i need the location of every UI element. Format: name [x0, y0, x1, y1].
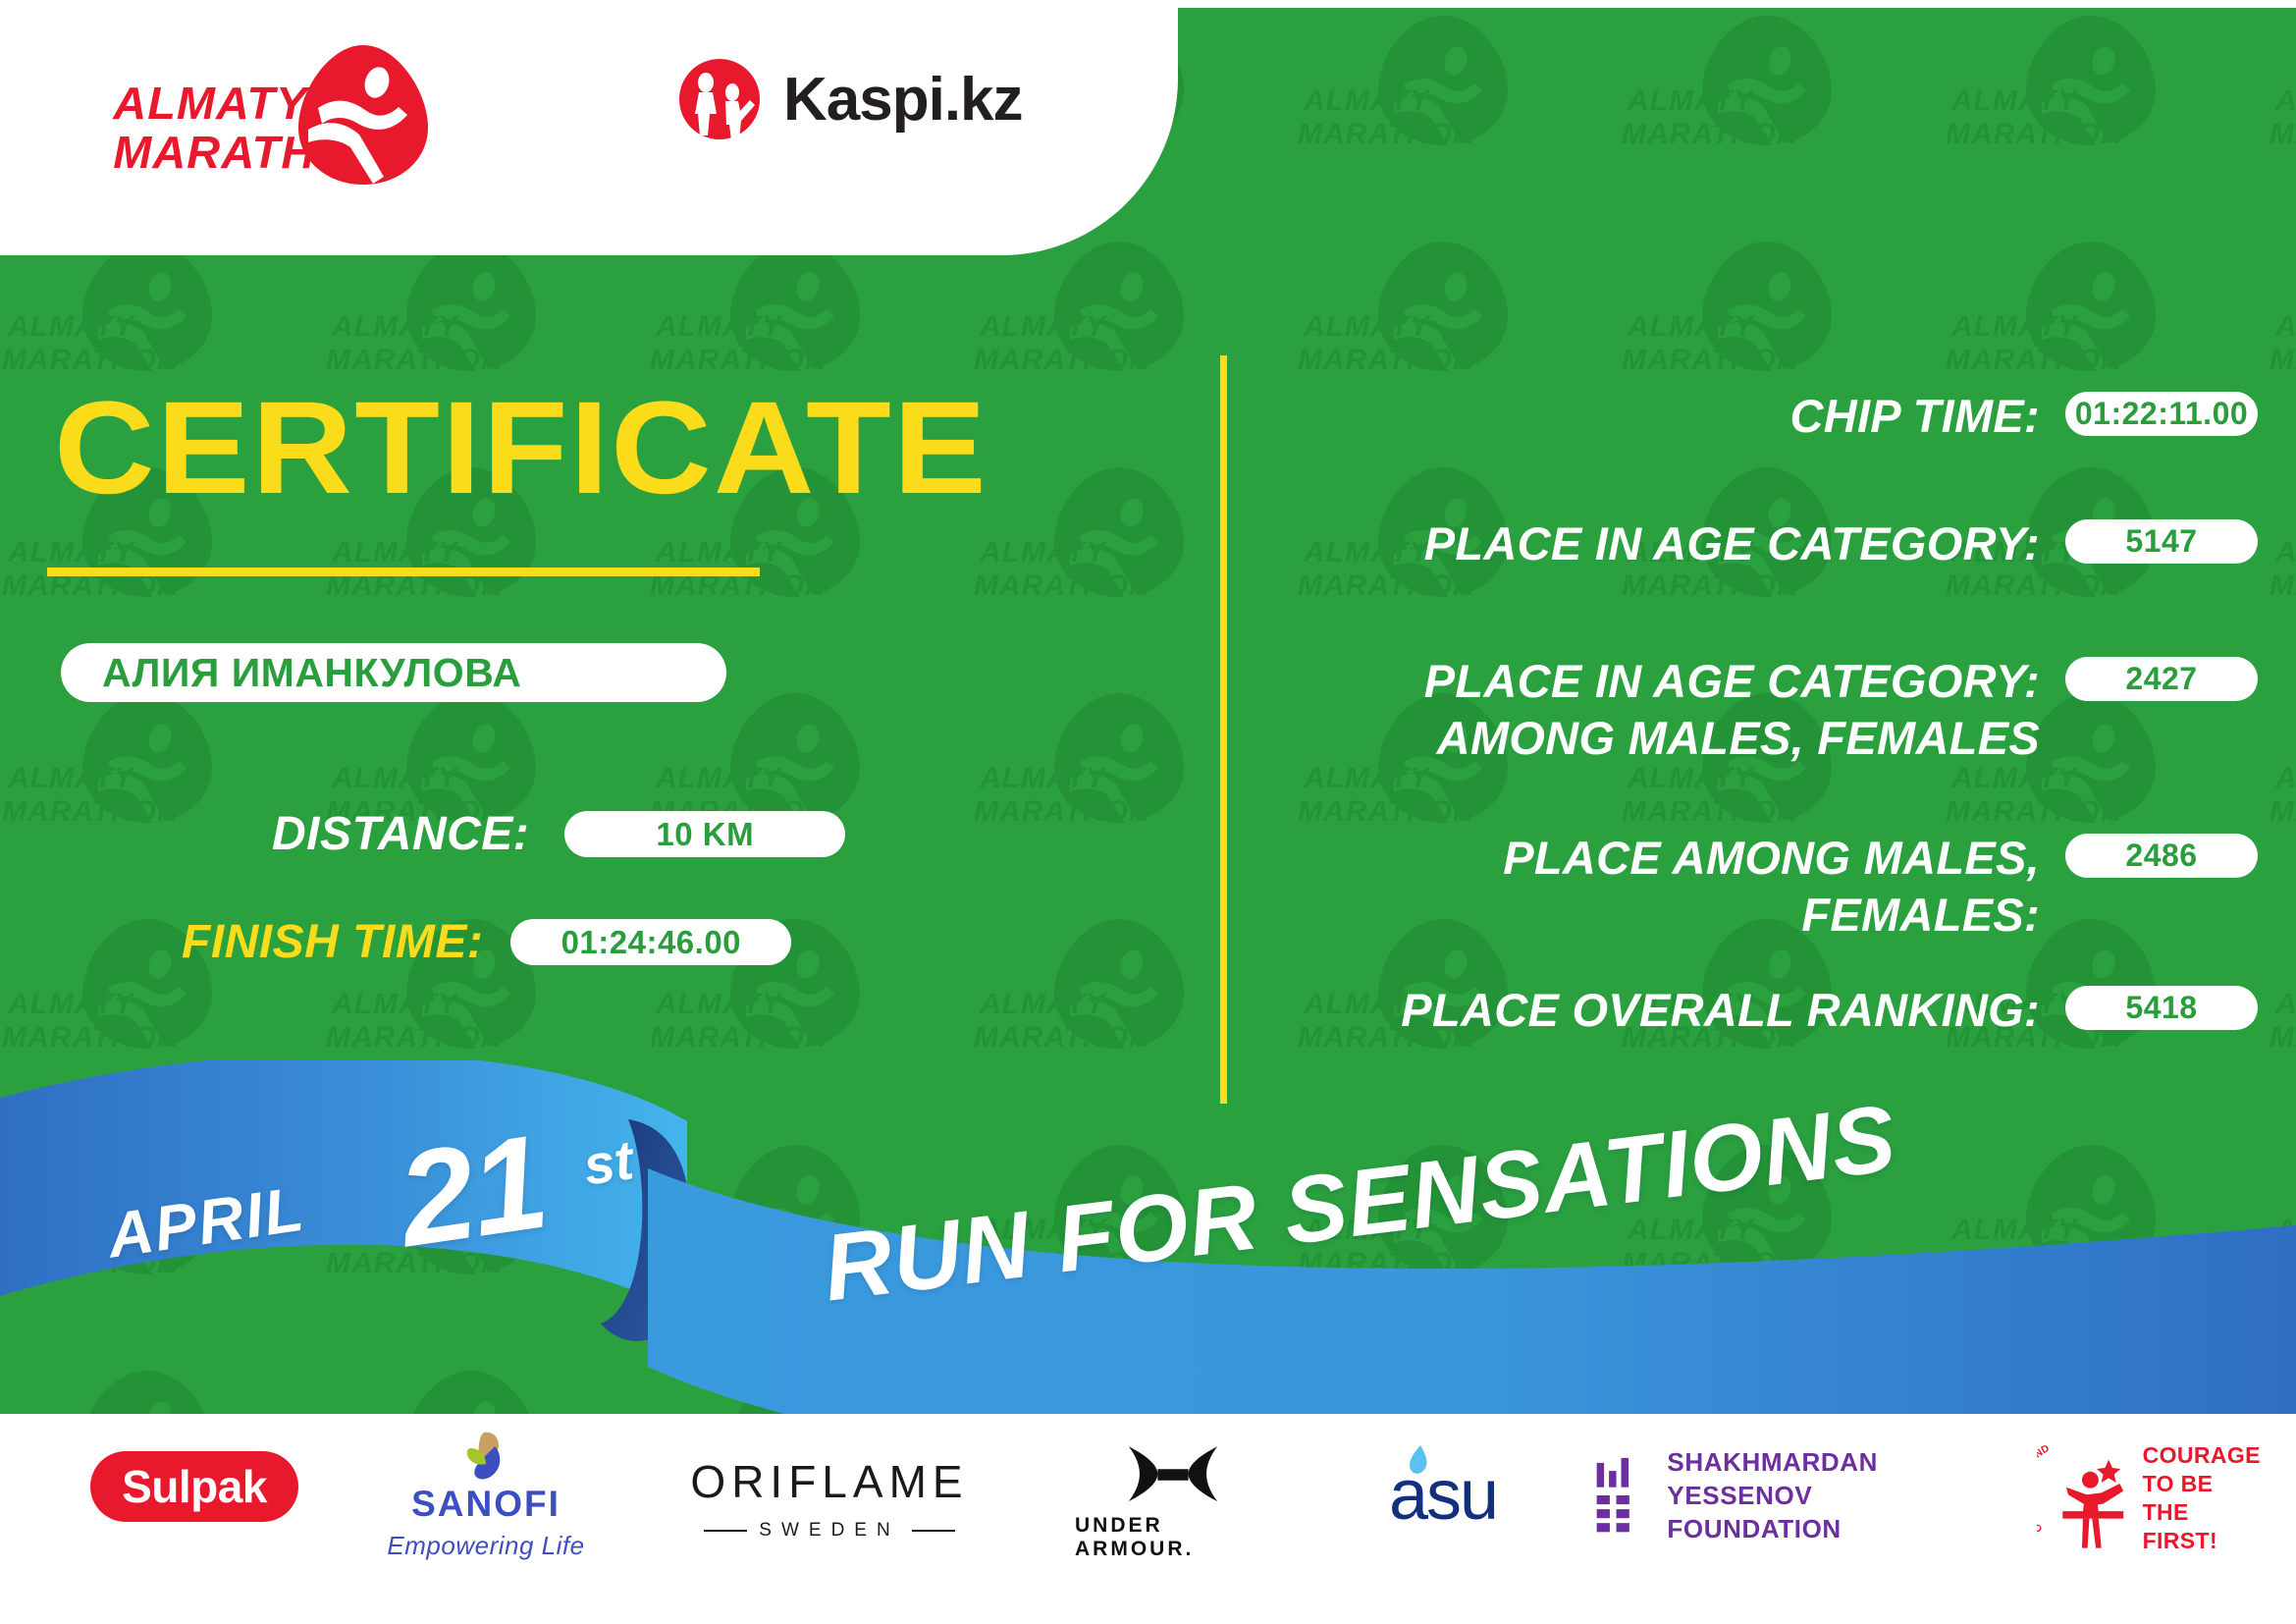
place-among-gender-label: PLACE AMONG MALES, FEMALES: [1276, 830, 2065, 944]
courage-line3: THE FIRST! [2143, 1498, 2263, 1555]
yessenov-wordmark-line1: SHAKHMARDAN YESSENOV [1667, 1445, 1968, 1512]
place-overall-value: 5418 [2065, 986, 2258, 1030]
sponsor-logo-oriflame: ORIFLAME SWEDEN [687, 1451, 972, 1544]
distance-value: 10 KM [564, 811, 845, 857]
certificate-canvas: ALMATY MARATHON ALMATY MARATHON [0, 0, 2296, 1624]
chip-time-row: CHIP TIME: 01:22:11.00 [1276, 388, 2258, 445]
sulpak-wordmark: Sulpak [122, 1460, 267, 1513]
kaspi-wordmark: Kaspi.kz [783, 65, 1023, 135]
place-among-gender-value: 2486 [2065, 834, 2258, 878]
oriflame-wordmark: ORIFLAME [690, 1455, 968, 1508]
sponsor-logo-yessenov: SHAKHMARDAN YESSENOV FOUNDATION [1595, 1441, 1968, 1549]
runner-drop-icon [294, 41, 432, 189]
participant-name-value: АЛИЯ ИМАНКУЛОВА [102, 650, 521, 696]
chip-time-label: CHIP TIME: [1276, 388, 2065, 445]
place-age-category-value: 5147 [2065, 519, 2258, 564]
sponsor-logo-asu: asu [1355, 1451, 1531, 1540]
almaty-marathon-logo: ALMATY MARATHON [116, 41, 430, 189]
place-among-gender-row: PLACE AMONG MALES, FEMALES: 2486 [1276, 830, 2258, 944]
yessenov-bars-icon [1595, 1450, 1645, 1541]
title-divider [47, 568, 760, 576]
ribbon-day: 21 [390, 1105, 555, 1276]
ribbon-day-suffix: st [579, 1127, 637, 1197]
under-armour-wordmark: UNDER ARMOUR. [1075, 1514, 1271, 1561]
sanofi-mark-icon [455, 1429, 516, 1484]
place-overall-label: PLACE OVERALL RANKING: [1276, 982, 2065, 1039]
sponsor-logo-sanofi: SANOFI Empowering Life [373, 1429, 599, 1561]
courage-figure-icon: CORPORATE FUND [2037, 1439, 2133, 1557]
finish-time-row: FINISH TIME: 01:24:46.00 [182, 915, 791, 969]
sanofi-wordmark: SANOFI [411, 1484, 561, 1525]
place-age-category-gender-value: 2427 [2065, 657, 2258, 701]
distance-label: DISTANCE: [272, 807, 529, 861]
under-armour-icon [1109, 1443, 1237, 1506]
place-age-category-gender-row: PLACE IN AGE CATEGORY: AMONG MALES, FEMA… [1276, 653, 2258, 767]
place-overall-row: PLACE OVERALL RANKING: 5418 [1276, 982, 2258, 1039]
yessenov-wordmark-line2: FOUNDATION [1667, 1512, 1968, 1545]
page-title: CERTIFICATE [54, 383, 988, 514]
distance-row: DISTANCE: 10 KM [272, 807, 845, 861]
courage-line2: TO BE [2143, 1470, 2263, 1498]
place-age-category-gender-label: PLACE IN AGE CATEGORY: AMONG MALES, FEMA… [1276, 653, 2065, 767]
place-age-category-row: PLACE IN AGE CATEGORY: 5147 [1276, 515, 2258, 572]
header: ALMATY MARATHON [0, 0, 1178, 255]
kaspi-people-icon [677, 57, 762, 141]
place-age-category-label: PLACE IN AGE CATEGORY: [1276, 515, 2065, 572]
vertical-divider [1220, 355, 1227, 1104]
participant-name-field: АЛИЯ ИМАНКУЛОВА [61, 643, 726, 702]
chip-time-value: 01:22:11.00 [2065, 392, 2258, 436]
sponsor-logo-under-armour: UNDER ARMOUR. [1075, 1443, 1271, 1561]
finish-time-label: FINISH TIME: [182, 915, 483, 969]
sponsor-logo-sulpak: Sulpak [90, 1451, 298, 1522]
sponsor-logo-courage: CORPORATE FUND COURAGE TO BE THE FIRST! [2037, 1435, 2263, 1561]
kaspi-logo: Kaspi.kz [677, 57, 1023, 141]
asu-droplet-icon [1406, 1443, 1431, 1489]
svg-text:CORPORATE FUND: CORPORATE FUND [2037, 1443, 2052, 1534]
oriflame-subtitle: SWEDEN [704, 1520, 954, 1542]
finish-time-value: 01:24:46.00 [510, 919, 791, 965]
sanofi-tagline: Empowering Life [387, 1531, 584, 1561]
courage-line1: COURAGE [2143, 1441, 2263, 1470]
